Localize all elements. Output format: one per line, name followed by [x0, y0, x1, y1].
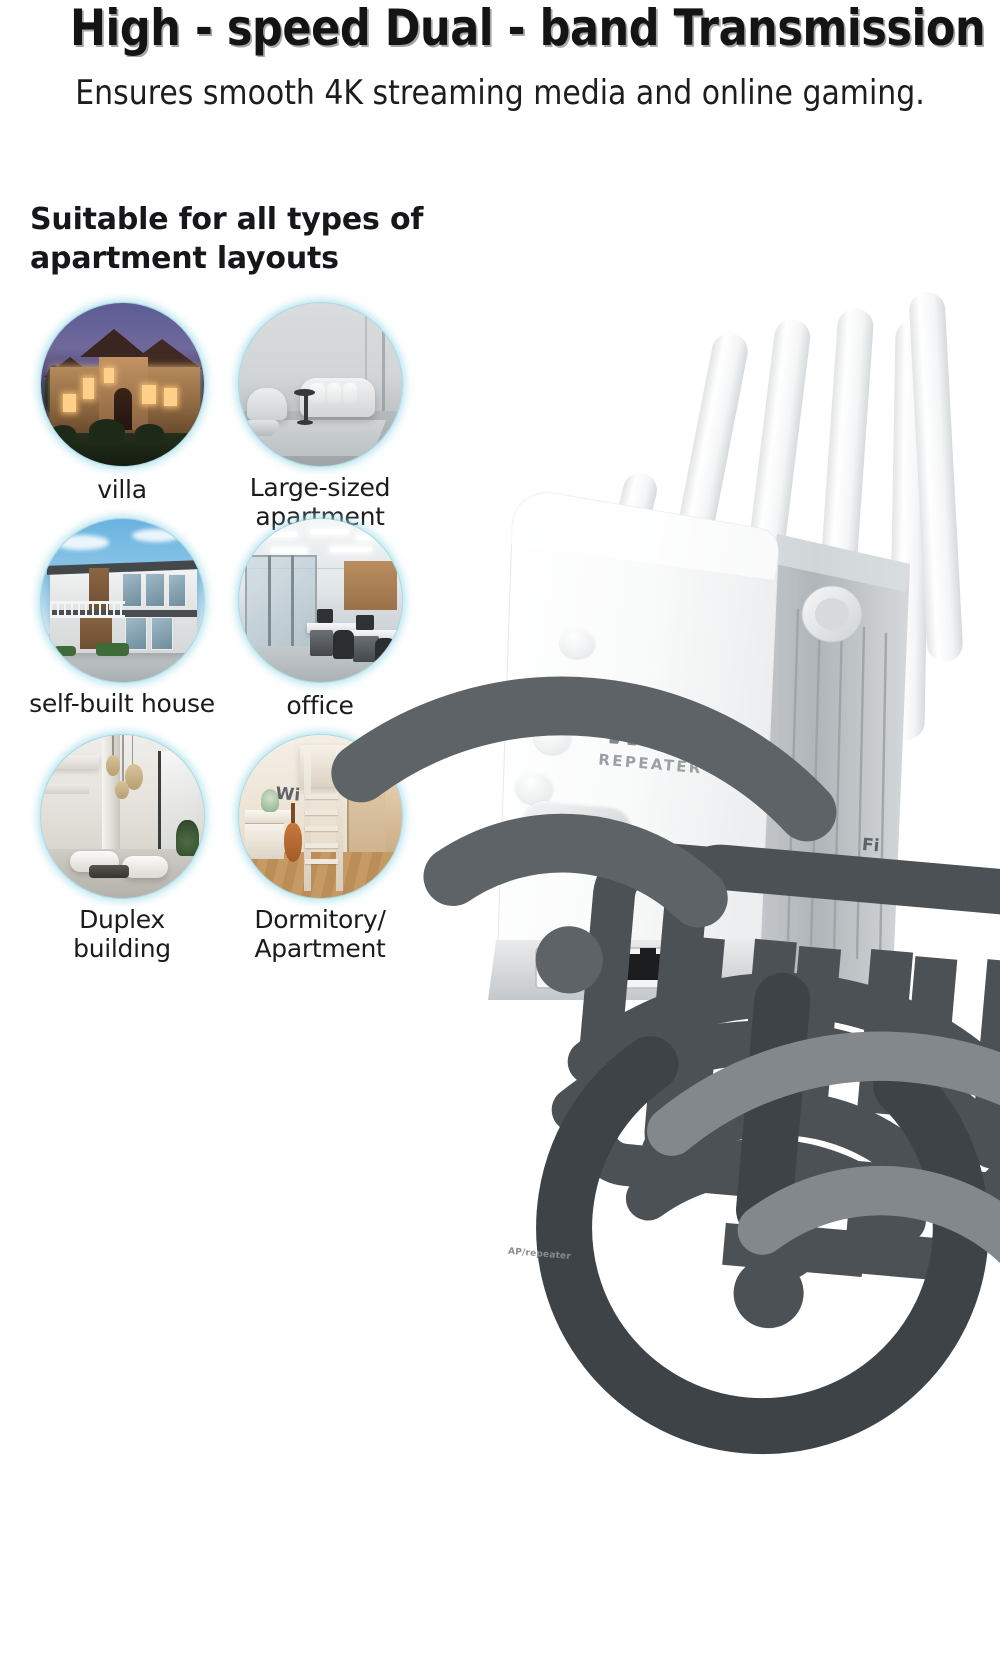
- thumbnail-office[interactable]: [239, 519, 402, 682]
- open-plan-office-image: [239, 519, 402, 682]
- thumbnail-dormitory-apartment[interactable]: [239, 735, 402, 898]
- thumbnail-villa[interactable]: [41, 303, 204, 466]
- grid-row: Duplex building: [22, 735, 422, 951]
- layout-types-grid: villa La: [22, 303, 422, 951]
- product-image-wifi-repeater: WiFi REPEATER Wi Fi AP/repeater: [440, 140, 1000, 1000]
- list-item-caption: Duplex building: [27, 905, 217, 963]
- antenna-hinge: [802, 586, 862, 642]
- thumbnail-self-built-house[interactable]: [41, 519, 204, 682]
- device-front-face: [496, 492, 778, 1000]
- list-item-dormitory-apartment[interactable]: Dormitory/ Apartment: [225, 735, 415, 963]
- modern-two-story-house-image: [41, 519, 204, 682]
- loft-bed-room-image: [239, 735, 402, 898]
- list-item-villa[interactable]: villa: [27, 303, 217, 504]
- device-bottom: [488, 940, 758, 1000]
- page-subheadline: Ensures smooth 4K streaming media and on…: [60, 74, 940, 112]
- page-headline: High - speed Dual - band Transmission: [70, 2, 930, 54]
- thumbnail-large-sized-apartment[interactable]: [239, 303, 402, 466]
- thumbnail-duplex-building[interactable]: [41, 735, 204, 898]
- grid-row: self-built house: [22, 519, 422, 735]
- list-item-caption: office: [225, 691, 415, 720]
- list-item-caption: self-built house: [27, 689, 217, 718]
- list-item-large-sized-apartment[interactable]: Large-sized apartment: [225, 303, 415, 531]
- double-height-living-room-image: [41, 735, 204, 898]
- ap-button-sublabel: AP/repeater: [508, 1247, 572, 1262]
- list-item-duplex-building[interactable]: Duplex building: [27, 735, 217, 963]
- villa-night-exterior-image: [41, 303, 204, 466]
- left-panel-title: Suitable for all types of apartment layo…: [30, 200, 450, 278]
- list-item-caption: villa: [27, 475, 217, 504]
- list-item-caption: Dormitory/ Apartment: [225, 905, 415, 963]
- list-item-office[interactable]: office: [225, 519, 415, 720]
- list-item-self-built-house[interactable]: self-built house: [27, 519, 217, 718]
- gray-living-room-image: [239, 303, 402, 466]
- ethernet-port-1: [536, 948, 600, 988]
- grid-row: villa La: [22, 303, 422, 519]
- ethernet-port-2: [616, 948, 680, 988]
